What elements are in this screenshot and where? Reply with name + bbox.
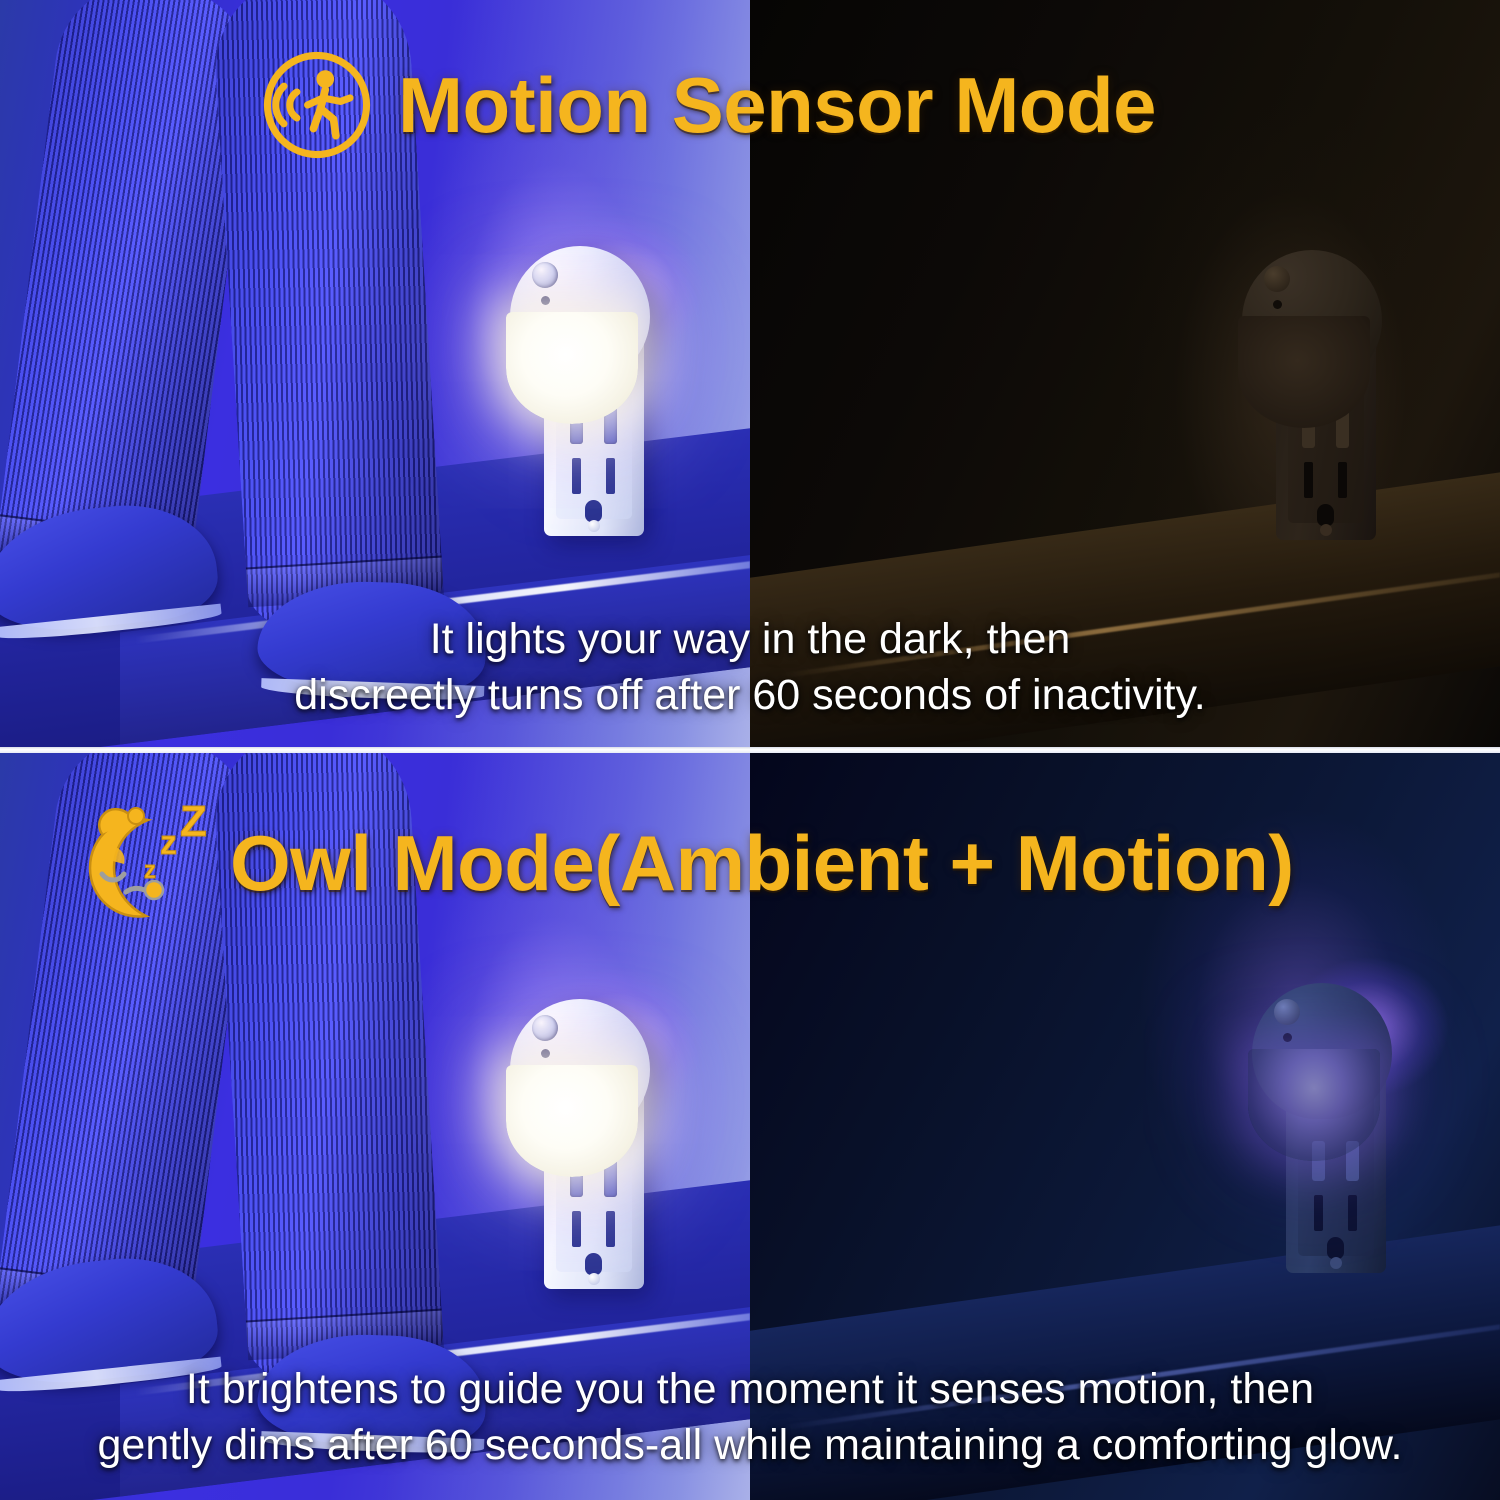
outlet-slot-left: [1314, 1195, 1323, 1231]
light-lens: [506, 1065, 638, 1177]
caption-line: It brightens to guide you the moment it …: [0, 1362, 1500, 1418]
outlet-slot-right: [606, 458, 615, 494]
night-light-on: [498, 981, 688, 1291]
owl-mode-title: Owl Mode(Ambient + Motion): [230, 818, 1294, 909]
outlet-slot-left: [572, 458, 581, 494]
motion-sensor-icon: [258, 46, 376, 164]
caption-line: It lights your way in the dark, then: [0, 612, 1500, 668]
svg-text:z: z: [144, 857, 156, 884]
outlet-ground: [585, 500, 602, 522]
photo-sensor-hole: [541, 296, 550, 305]
caption-line: gently dims after 60 seconds-all while m…: [0, 1418, 1500, 1474]
outlet-slot-right: [606, 1211, 615, 1247]
night-light-ambient: [1240, 965, 1430, 1275]
photo-sensor-hole: [1283, 1033, 1292, 1042]
plate-screw: [1320, 524, 1332, 536]
pir-sensor-dome: [532, 1015, 558, 1041]
svg-text:Z: Z: [180, 800, 207, 846]
pir-sensor-dome: [532, 262, 558, 288]
motion-sensor-mode-title: Motion Sensor Mode: [398, 60, 1156, 151]
outlet-ground: [585, 1253, 602, 1275]
pir-sensor-dome: [1264, 266, 1290, 292]
outlet-ground: [1327, 1237, 1344, 1259]
infographic-canvas: Motion Sensor Mode It lights your way in…: [0, 0, 1500, 1500]
svg-text:z: z: [160, 824, 177, 862]
photo-sensor-hole: [1273, 300, 1282, 309]
owl-mode-header: z z Z Owl Mode(Ambient + Motion): [68, 800, 1294, 926]
sleeping-moon-icon: z z Z: [68, 800, 218, 926]
owl-mode-caption: It brightens to guide you the moment it …: [0, 1362, 1500, 1474]
panel-divider: [0, 747, 1500, 753]
motion-sensor-mode-caption: It lights your way in the dark, then dis…: [0, 612, 1500, 724]
night-light-off: [1230, 232, 1420, 542]
outlet-slot-left: [1304, 462, 1313, 498]
outlet-slot-right: [1338, 462, 1347, 498]
plate-screw: [1330, 1257, 1342, 1269]
caption-line: discreetly turns off after 60 seconds of…: [0, 668, 1500, 724]
light-lens: [506, 312, 638, 424]
motion-sensor-mode-header: Motion Sensor Mode: [258, 46, 1156, 164]
light-lens: [1248, 1049, 1380, 1161]
outlet-slot-right: [1348, 1195, 1357, 1231]
photo-sensor-hole: [541, 1049, 550, 1058]
plate-screw: [588, 520, 600, 532]
light-lens: [1238, 316, 1370, 428]
plate-screw: [588, 1273, 600, 1285]
outlet-slot-left: [572, 1211, 581, 1247]
pir-sensor-dome: [1274, 999, 1300, 1025]
night-light-on: [498, 228, 688, 538]
outlet-ground: [1317, 504, 1334, 526]
